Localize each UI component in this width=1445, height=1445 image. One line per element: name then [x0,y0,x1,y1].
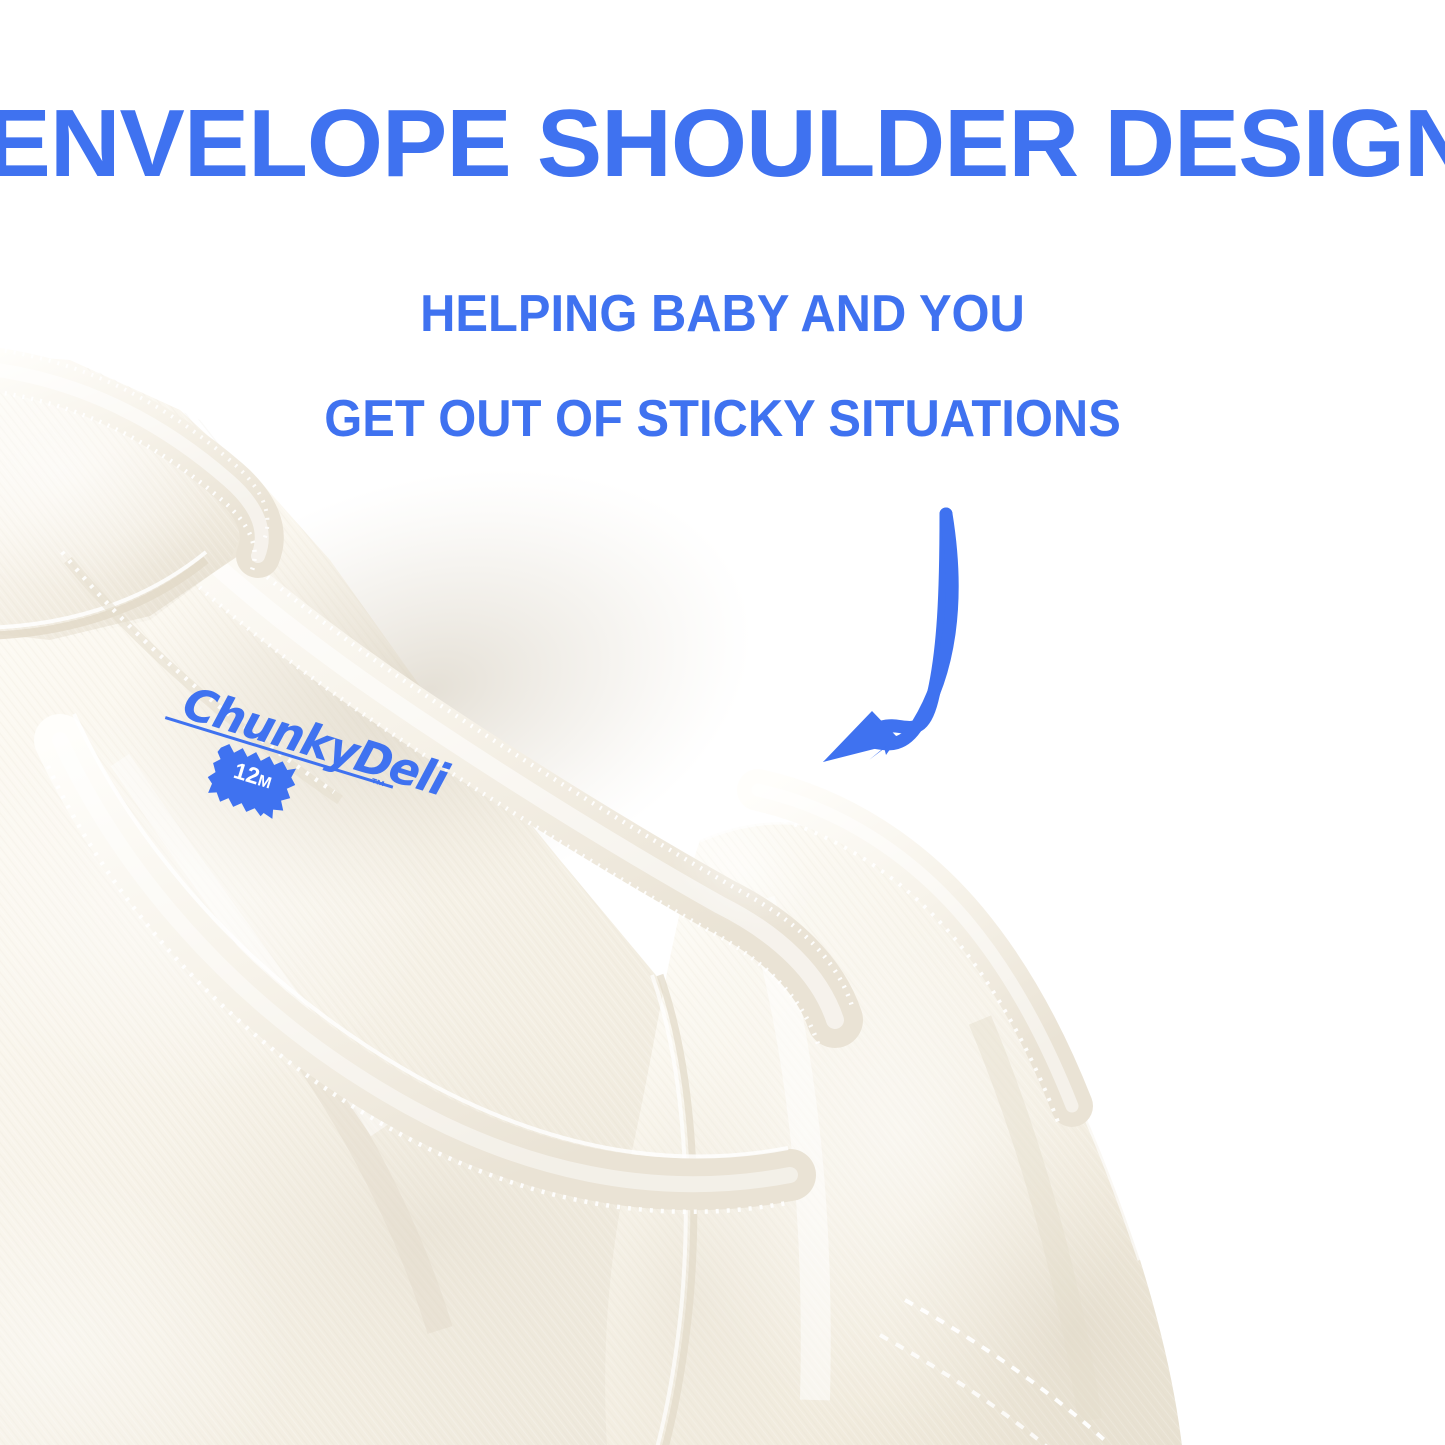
subtitle-line-1: HELPING BABY AND YOU [43,288,1401,340]
product-feature-graphic: 12M ChunkyDeli ™ ENVELOPE SHOULDER DESIG… [0,0,1445,1445]
subtitle-line-2: GET OUT OF STICKY SITUATIONS [43,393,1401,445]
garment-photo [0,0,1445,1445]
page-title: ENVELOPE SHOULDER DESIGN [0,96,1445,192]
